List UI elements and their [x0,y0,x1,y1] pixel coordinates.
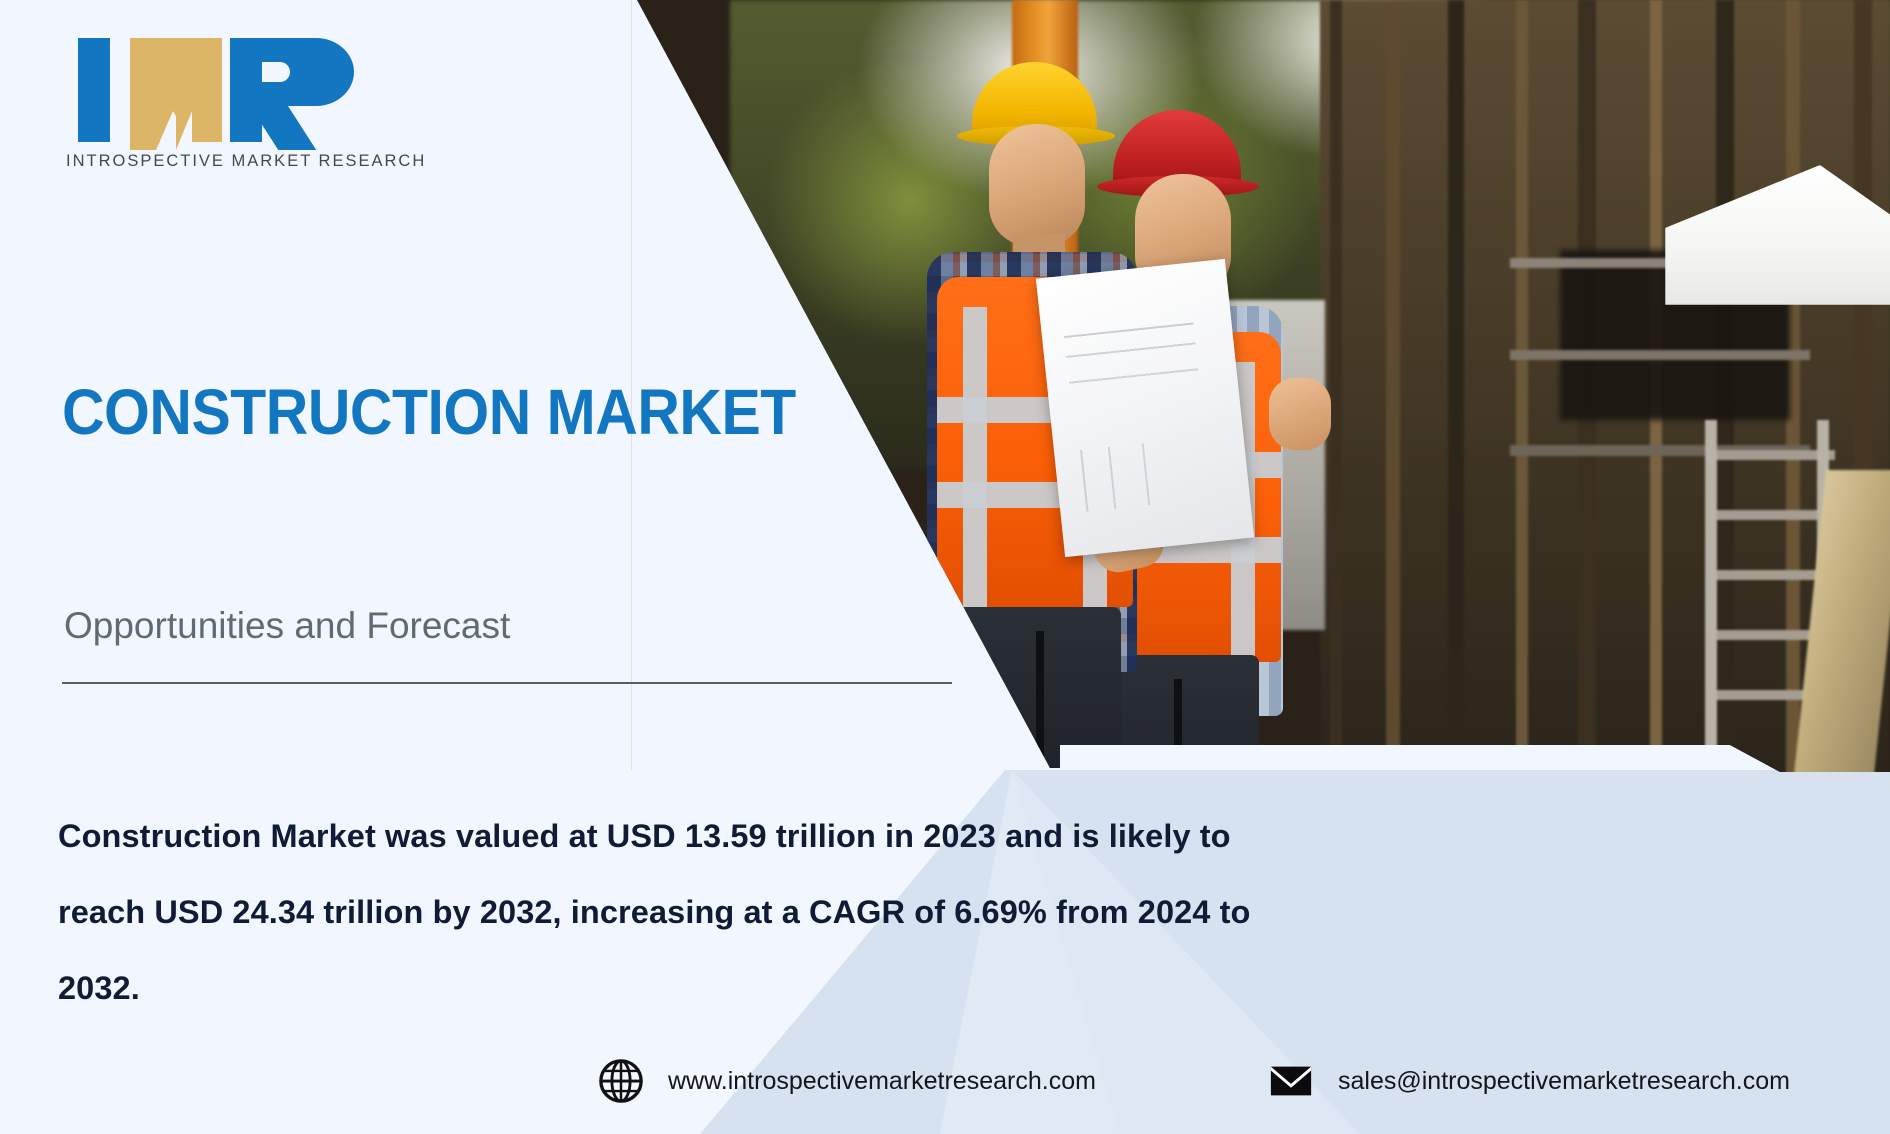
worker-trousers [951,607,1121,775]
worker-face [989,124,1085,246]
header-divider [62,682,952,684]
globe-icon [598,1058,644,1104]
blueprint-document [1036,259,1254,557]
imr-logo[interactable]: INTROSPECTIVE MARKET RESEARCH [62,30,372,190]
poster-canvas: INTROSPECTIVE MARKET RESEARCH CONSTRUCTI… [0,0,1890,1134]
summary-line-1: Construction Market was valued at USD 13… [58,798,1548,874]
page-subtitle: Opportunities and Forecast [64,605,964,647]
market-summary-text: Construction Market was valued at USD 13… [58,798,1548,1026]
worker-raised-hand [1269,378,1331,450]
imr-logo-mark [72,30,362,150]
vest-reflective-stripe [963,307,987,607]
summary-line-2: reach USD 24.34 trillion by 2032, increa… [58,874,1548,950]
email-address-text: sales@introspectivemarketresearch.com [1338,1067,1790,1096]
summary-line-3: 2032. [58,950,1548,1026]
page-title: CONSTRUCTION MARKET [62,375,890,449]
footer-email[interactable]: sales@introspectivemarketresearch.com [1268,1058,1790,1104]
website-url-text: www.introspectivemarketresearch.com [668,1067,1096,1096]
envelope-icon [1268,1058,1314,1104]
logo-tagline: INTROSPECTIVE MARKET RESEARCH [66,152,372,171]
footer-website[interactable]: www.introspectivemarketresearch.com [598,1058,1096,1104]
